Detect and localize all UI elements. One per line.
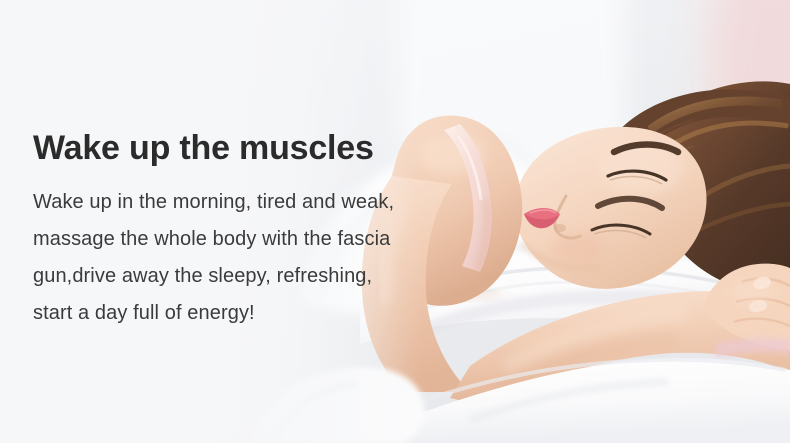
copy-block: Wake up the muscles Wake up in the morni…	[33, 126, 463, 332]
body-line: start a day full of energy!	[33, 295, 463, 332]
body-line: gun,drive away the sleepy, refreshing,	[33, 258, 463, 295]
body-line: massage the whole body with the fascia	[33, 221, 463, 258]
page-title: Wake up the muscles	[33, 126, 463, 170]
body-copy: Wake up in the morning, tired and weak, …	[33, 184, 463, 332]
body-line: Wake up in the morning, tired and weak,	[33, 184, 463, 221]
promo-banner: Wake up the muscles Wake up in the morni…	[0, 0, 790, 443]
